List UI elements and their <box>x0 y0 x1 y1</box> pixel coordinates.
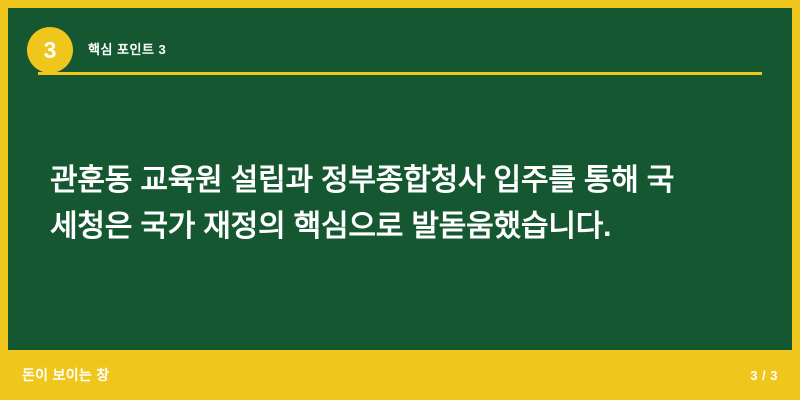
body-line-1: 관훈동 교육원 설립과 정부종합청사 입주를 통해 국 <box>50 158 756 204</box>
presentation-slide: 3 핵심 포인트 3 관훈동 교육원 설립과 정부종합청사 입주를 통해 국 세… <box>0 0 800 400</box>
slide-content-area: 3 핵심 포인트 3 관훈동 교육원 설립과 정부종합청사 입주를 통해 국 세… <box>8 8 792 350</box>
slide-body: 관훈동 교육원 설립과 정부종합청사 입주를 통해 국 세청은 국가 재정의 핵… <box>50 158 756 250</box>
slide-header-title: 핵심 포인트 3 <box>88 39 166 58</box>
header-divider <box>38 72 762 75</box>
body-line-2: 세청은 국가 재정의 핵심으로 발돋움했습니다. <box>50 204 756 250</box>
slide-header: 3 핵심 포인트 3 <box>8 8 792 76</box>
section-number-label: 3 <box>44 39 57 62</box>
footer-page-indicator: 3 / 3 <box>750 368 778 383</box>
section-number-badge: 3 <box>27 27 73 73</box>
footer-brand-label: 돈이 보이는 창 <box>22 365 109 385</box>
slide-footer: 돈이 보이는 창 3 / 3 <box>0 350 800 400</box>
